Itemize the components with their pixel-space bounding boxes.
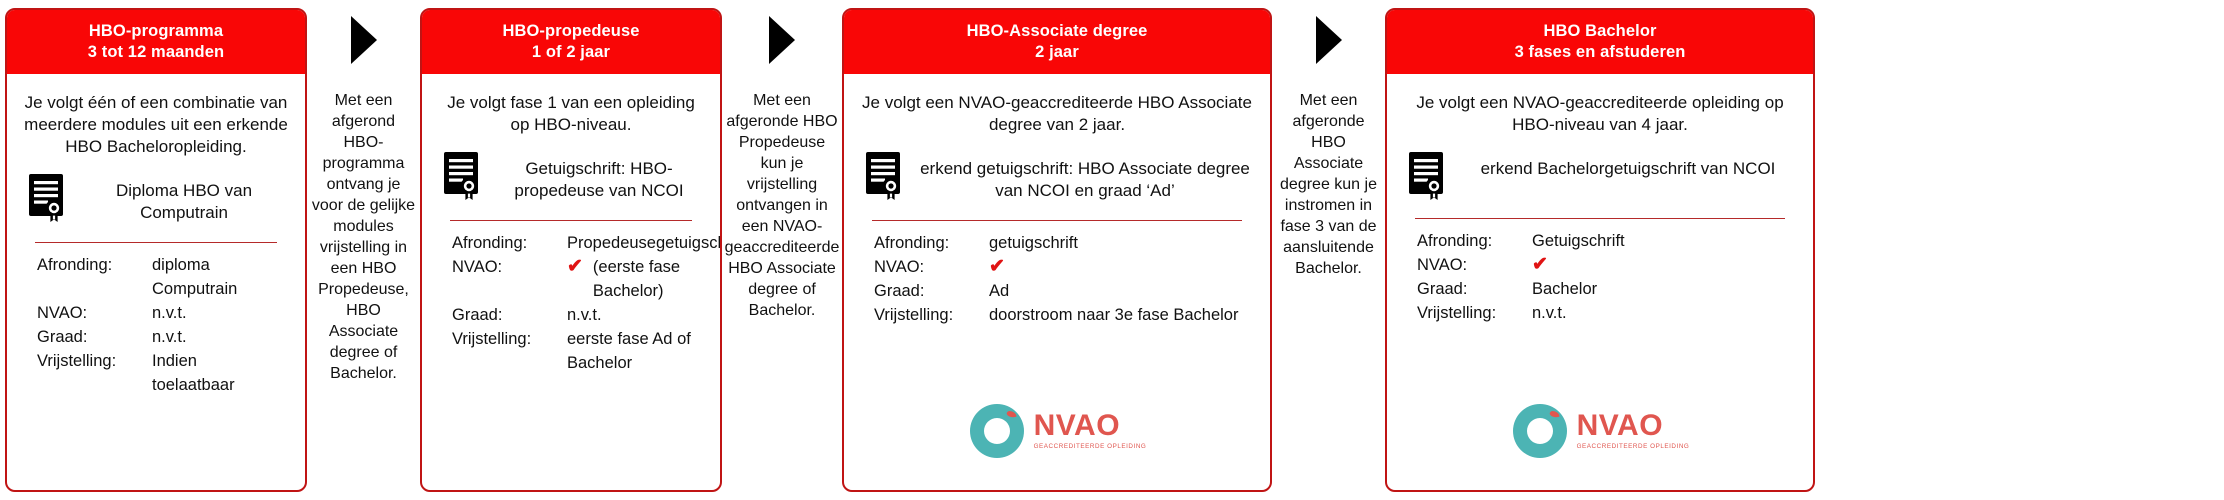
attr-row-afronding: Afronding: getuigschrift [874,231,1246,255]
attr-value-graad: n.v.t. [152,325,187,349]
card-body: Je volgt één of een combinatie van meerd… [7,74,305,490]
attr-label-afronding: Afronding: [37,253,152,277]
card-intro-text: Je volgt één of een combinatie van meerd… [23,92,289,158]
card-header: HBO Bachelor 3 fases en afstuderen [1387,10,1813,74]
attr-row-graad: Graad: Ad [874,279,1246,303]
nvao-mark-icon [1511,402,1569,460]
card-result: erkend Bachelorgetuigschrift van NCOI [1403,150,1797,200]
attr-label-afronding: Afronding: [874,231,989,255]
card-title: HBO-propedeuse [502,21,639,42]
connector-text: Met een afgerond HBO-programma ontvang j… [307,90,420,384]
connector-2: Met een afgeronde HBO Propedeuse kun je … [722,8,842,321]
nvao-word: NVAO [1034,411,1120,441]
card-header: HBO-Associate degree 2 jaar [844,10,1270,74]
attr-label-graad: Graad: [37,325,152,349]
nvao-word: NVAO [1577,411,1663,441]
divider [872,220,1242,221]
attr-value-afronding: diploma Computrain [152,253,281,301]
card-intro-text: Je volgt een NVAO-geaccrediteerde HBO As… [860,92,1254,136]
connector-1: Met een afgerond HBO-programma ontvang j… [307,8,420,384]
attr-label-vrijstelling: Vrijstelling: [874,303,989,327]
attr-value-afronding: Propedeusegetuigschrift [567,231,722,255]
divider [35,242,277,243]
attr-label-nvao: NVAO: [37,301,152,325]
card-subtitle: 3 tot 12 maanden [88,42,224,63]
card-result-text: Diploma HBO van Computrain [83,172,285,224]
attr-row-vrijstelling: Vrijstelling: eerste fase Ad of Bachelor [452,327,696,375]
attribute-list: Afronding: Propedeusegetuigschrift NVAO:… [438,231,704,375]
card-body: Je volgt fase 1 van een opleiding op HBO… [422,74,720,490]
attr-label-vrijstelling: Vrijstelling: [1417,301,1532,325]
card-body: Je volgt een NVAO-geaccrediteerde opleid… [1387,74,1813,490]
check-icon: ✔ [989,257,1005,276]
nvao-wordmark: NVAO GEACCREDITEERDE OPLEIDING [1577,411,1690,450]
attr-label-afronding: Afronding: [1417,229,1532,253]
nvao-mark-icon [968,402,1026,460]
attr-row-graad: Graad: n.v.t. [37,325,281,349]
card-result: Getuigschrift: HBO-propedeuse van NCOI [438,150,704,202]
attr-value-nvao: n.v.t. [152,301,187,325]
card-subtitle: 2 jaar [1035,42,1079,63]
attr-row-nvao: NVAO: ✔ (eerste fase Bachelor) [452,255,696,303]
card-header: HBO-propedeuse 1 of 2 jaar [422,10,720,74]
attr-row-graad: Graad: Bachelor [1417,277,1789,301]
attribute-list: Afronding: getuigschrift NVAO: ✔ Graad: … [860,231,1254,327]
attr-label-vrijstelling: Vrijstelling: [452,327,567,351]
card-body: Je volgt een NVAO-geaccrediteerde HBO As… [844,74,1270,490]
certificate-icon [864,152,906,200]
attr-note-nvao: (eerste fase Bachelor) [593,255,696,303]
attr-row-vrijstelling: Vrijstelling: doorstroom naar 3e fase Ba… [874,303,1246,327]
attr-value-vrijstelling: n.v.t. [1532,301,1567,325]
attr-value-afronding: getuigschrift [989,231,1078,255]
card-subtitle: 1 of 2 jaar [532,42,610,63]
arrow-right-icon [351,16,377,64]
card-intro-text: Je volgt fase 1 van een opleiding op HBO… [438,92,704,136]
connector-3: Met een afgeronde HBO Associate degree k… [1272,8,1385,279]
connector-text: Met een afgeronde HBO Propedeuse kun je … [721,90,844,321]
nvao-tagline: GEACCREDITEERDE OPLEIDING [1577,444,1690,450]
card-title: HBO-Associate degree [967,21,1148,42]
card-result-text: erkend getuigschrift: HBO Associate degr… [920,150,1250,202]
card-hbo-bachelor: HBO Bachelor 3 fases en afstuderen Je vo… [1385,8,1815,492]
attr-value-vrijstelling: eerste fase Ad of Bachelor [567,327,696,375]
check-icon: ✔ [1532,255,1548,274]
attribute-list: Afronding: diploma Computrain NVAO: n.v.… [23,253,289,397]
nvao-accreditation-logo: NVAO GEACCREDITEERDE OPLEIDING [1387,402,1813,460]
attr-label-afronding: Afronding: [452,231,567,255]
nvao-tagline: GEACCREDITEERDE OPLEIDING [1034,444,1147,450]
card-result: erkend getuigschrift: HBO Associate degr… [860,150,1254,202]
card-intro-text: Je volgt een NVAO-geaccrediteerde opleid… [1403,92,1797,136]
card-result-text: erkend Bachelorgetuigschrift van NCOI [1463,150,1793,180]
attr-label-nvao: NVAO: [1417,253,1532,277]
check-icon: ✔ [567,257,583,276]
card-title: HBO Bachelor [1543,21,1656,42]
card-result: Diploma HBO van Computrain [23,172,289,224]
card-result-text: Getuigschrift: HBO-propedeuse van NCOI [498,150,700,202]
attr-label-graad: Graad: [452,303,567,327]
certificate-icon [1407,152,1449,200]
attr-row-afronding: Afronding: Propedeusegetuigschrift [452,231,696,255]
connector-text: Met een afgeronde HBO Associate degree k… [1272,90,1385,279]
nvao-accreditation-logo: NVAO GEACCREDITEERDE OPLEIDING [844,402,1270,460]
arrow-right-icon [1316,16,1342,64]
attr-value-graad: Bachelor [1532,277,1597,301]
hbo-route-diagram: HBO-programma 3 tot 12 maanden Je volgt … [0,0,2224,500]
card-subtitle: 3 fases en afstuderen [1515,42,1686,63]
attr-value-vrijstelling: Indien toelaatbaar [152,349,281,397]
attr-row-afronding: Afronding: Getuigschrift [1417,229,1789,253]
attr-value-graad: Ad [989,279,1009,303]
card-title: HBO-programma [89,21,223,42]
arrow-right-icon [769,16,795,64]
attr-label-graad: Graad: [1417,277,1532,301]
attr-row-vrijstelling: Vrijstelling: n.v.t. [1417,301,1789,325]
divider [1415,218,1785,219]
divider [450,220,692,221]
nvao-wordmark: NVAO GEACCREDITEERDE OPLEIDING [1034,411,1147,450]
attr-row-afronding: Afronding: diploma Computrain [37,253,281,301]
certificate-icon [27,174,69,222]
card-header: HBO-programma 3 tot 12 maanden [7,10,305,74]
card-hbo-associate-degree: HBO-Associate degree 2 jaar Je volgt een… [842,8,1272,492]
attr-value-graad: n.v.t. [567,303,602,327]
attr-label-nvao: NVAO: [452,255,567,279]
attr-label-vrijstelling: Vrijstelling: [37,349,152,373]
attr-row-nvao: NVAO: ✔ [1417,253,1789,277]
attr-row-nvao: NVAO: ✔ [874,255,1246,279]
attr-row-vrijstelling: Vrijstelling: Indien toelaatbaar [37,349,281,397]
attr-label-graad: Graad: [874,279,989,303]
attr-label-nvao: NVAO: [874,255,989,279]
attr-row-graad: Graad: n.v.t. [452,303,696,327]
attribute-list: Afronding: Getuigschrift NVAO: ✔ Graad: … [1403,229,1797,325]
attr-value-vrijstelling: doorstroom naar 3e fase Bachelor [989,303,1238,327]
attr-row-nvao: NVAO: n.v.t. [37,301,281,325]
certificate-icon [442,152,484,200]
card-hbo-propedeuse: HBO-propedeuse 1 of 2 jaar Je volgt fase… [420,8,722,492]
card-hbo-programma: HBO-programma 3 tot 12 maanden Je volgt … [5,8,307,492]
attr-value-afronding: Getuigschrift [1532,229,1625,253]
